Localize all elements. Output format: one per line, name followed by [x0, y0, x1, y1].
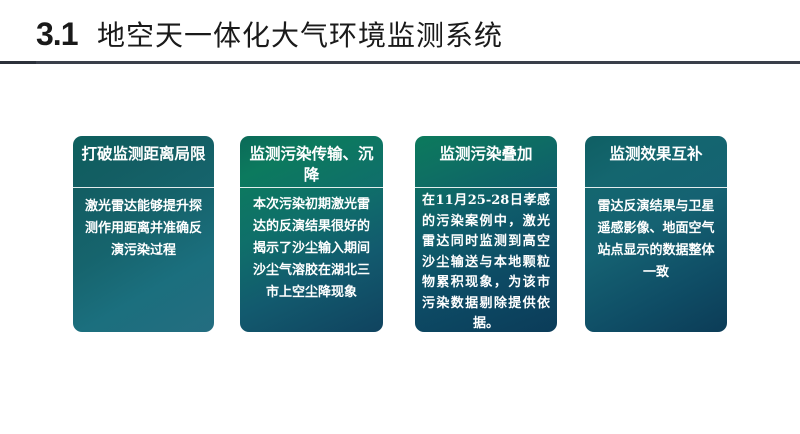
page-title: 地空天一体化大气环境监测系统: [97, 20, 503, 52]
card-divider: [415, 187, 557, 188]
title-divider-rule: [0, 61, 800, 64]
card-body: 激光雷达能够提升探测作用距离并准确反演污染过程: [73, 196, 214, 262]
card-inner: 监测污染传输、沉降 本次污染初期激光雷达的反演结果很好的揭示了沙尘输入期间沙尘气…: [240, 136, 383, 332]
card-divider: [240, 187, 383, 188]
info-card-pollution-superposition[interactable]: 监测污染叠加 在11月25-28日孝感的污染案例中，激光雷达同时监测到高空沙尘输…: [415, 136, 557, 332]
card-header: 监测效果互补: [591, 136, 721, 164]
card-inner: 打破监测距离局限 激光雷达能够提升探测作用距离并准确反演污染过程: [73, 136, 214, 332]
card-body: 雷达反演结果与卫星遥感影像、地面空气站点显示的数据整体一致: [585, 196, 727, 284]
title-divider-accent: [0, 61, 36, 64]
section-number: 3.1: [36, 17, 77, 51]
card-body: 本次污染初期激光雷达的反演结果很好的揭示了沙尘输入期间沙尘气溶胶在湖北三市上空尘…: [240, 194, 383, 304]
card-header: 监测污染传输、沉降: [246, 136, 377, 185]
card-body: 在11月25-28日孝感的污染案例中，激光雷达同时监测到高空沙尘输送与本地颗粒物…: [415, 191, 557, 332]
card-row: 打破监测距离局限 激光雷达能够提升探测作用距离并准确反演污染过程 监测污染传输、…: [0, 136, 800, 336]
slide-header: 3.1 地空天一体化大气环境监测系统: [0, 0, 800, 66]
info-card-monitoring-distance[interactable]: 打破监测距离局限 激光雷达能够提升探测作用距离并准确反演污染过程: [73, 136, 214, 332]
card-header: 监测污染叠加: [421, 136, 551, 164]
info-card-pollution-transport[interactable]: 监测污染传输、沉降 本次污染初期激光雷达的反演结果很好的揭示了沙尘输入期间沙尘气…: [240, 136, 383, 332]
card-divider: [585, 187, 727, 188]
card-divider: [73, 187, 214, 188]
card-inner: 监测污染叠加 在11月25-28日孝感的污染案例中，激光雷达同时监测到高空沙尘输…: [415, 136, 557, 332]
info-card-complementary-effect[interactable]: 监测效果互补 雷达反演结果与卫星遥感影像、地面空气站点显示的数据整体一致: [585, 136, 727, 332]
card-inner: 监测效果互补 雷达反演结果与卫星遥感影像、地面空气站点显示的数据整体一致: [585, 136, 727, 332]
card-header: 打破监测距离局限: [79, 136, 208, 164]
